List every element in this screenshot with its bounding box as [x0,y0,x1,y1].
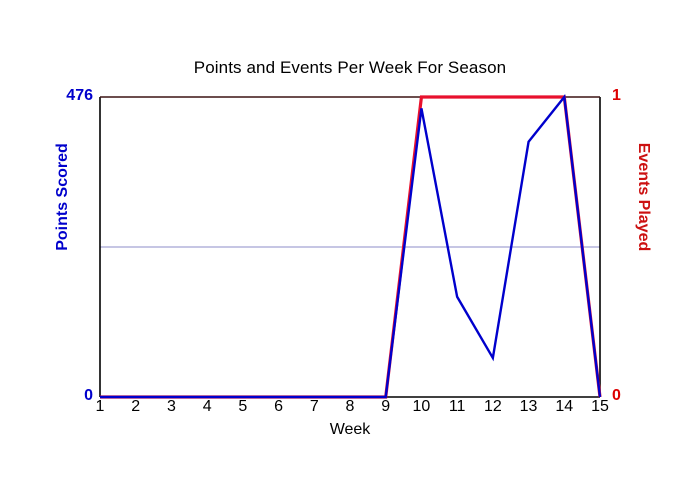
chart-container: Points and Events Per Week For Season Po… [0,0,700,500]
plot-area [0,0,700,500]
